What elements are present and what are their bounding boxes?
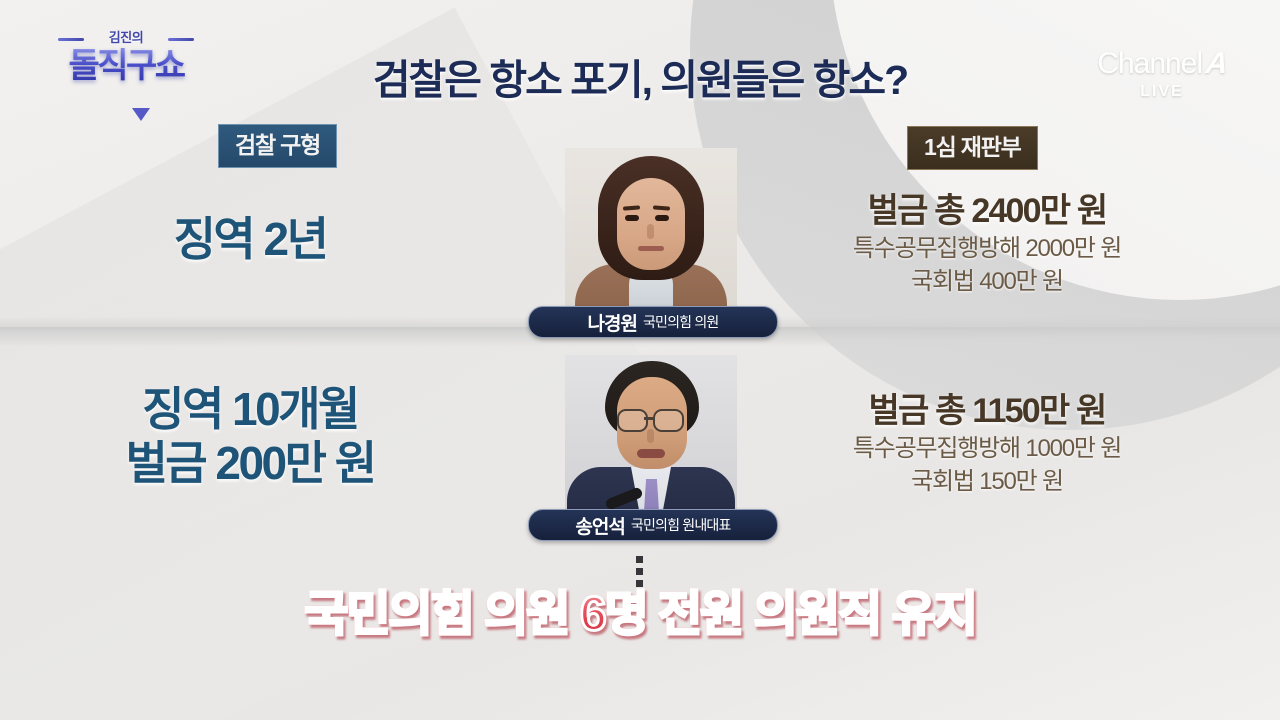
- right-value-row-2: 벌금 총 1150만 원 특수공무집행방해 1000만 원 국회법 150만 원: [772, 390, 1202, 498]
- portrait-2-glasses-left: [617, 409, 648, 432]
- portrait-1-nose: [647, 224, 654, 239]
- left-value-row-1: 징역 2년: [10, 212, 490, 266]
- nameplate-row-2: 송언석 국민의힘 원내대표: [528, 509, 778, 541]
- show-logo-title: 돌직구쇼: [52, 46, 200, 86]
- channel-brand-text: Channel: [1097, 47, 1202, 80]
- live-indicator: LIVE: [1062, 83, 1262, 101]
- sentence-row-1-line-1: 징역 2년: [10, 212, 490, 266]
- badge-first-trial-court: 1심 재판부: [907, 126, 1038, 170]
- channel-a-mark-icon: A: [1204, 48, 1228, 80]
- sentence-row-2-line-2: 벌금 200만 원: [10, 436, 490, 490]
- nameplate-2-person-name: 송언석: [575, 512, 624, 539]
- portrait-2-glasses-right: [653, 409, 684, 432]
- portrait-1-mouth: [638, 246, 664, 251]
- show-logo-speech-tail: [132, 108, 150, 121]
- ellipsis-dot: [636, 568, 643, 575]
- badge-prosecution-demand: 검찰 구형: [218, 124, 337, 168]
- fine-detail-row-2-line-2: 국회법 150만 원: [772, 465, 1202, 498]
- fine-total-row-2: 벌금 총 1150만 원: [772, 390, 1202, 432]
- right-value-row-1: 벌금 총 2400만 원 특수공무집행방해 2000만 원 국회법 400만 원: [772, 190, 1202, 298]
- nameplate-2-person-role: 국민의힘 원내대표: [631, 515, 731, 535]
- left-value-row-2: 징역 10개월 벌금 200만 원: [10, 382, 490, 490]
- nameplate-1-person-role: 국민의힘 의원: [643, 312, 719, 332]
- portrait-song-eon-seok: [565, 355, 737, 525]
- nameplate-row-1: 나경원 국민의힘 의원: [528, 306, 778, 338]
- fine-detail-row-1-line-1: 특수공무집행방해 2000만 원: [772, 232, 1202, 265]
- portrait-2-nose: [647, 429, 654, 443]
- channel-logo: ChannelA LIVE: [1062, 48, 1262, 101]
- show-logo-subtitle: 김진의: [52, 30, 200, 45]
- portrait-2-mouth: [637, 449, 665, 458]
- portrait-na-kyung-won: [565, 148, 737, 318]
- fine-total-row-1: 벌금 총 2400만 원: [772, 190, 1202, 232]
- fine-detail-row-2-line-1: 특수공무집행방해 1000만 원: [772, 432, 1202, 465]
- portrait-1-eye-right: [655, 215, 669, 221]
- portrait-1-eye-left: [625, 215, 639, 221]
- fine-detail-row-1-line-2: 국회법 400만 원: [772, 265, 1202, 298]
- portrait-2-glasses-bridge: [644, 417, 653, 420]
- vertical-ellipsis-icon: [636, 556, 643, 587]
- bottom-banner: 국민의힘 의원 6명 전원 의원직 유지: [0, 586, 1280, 644]
- ellipsis-dot: [636, 556, 643, 563]
- broadcast-graphic: 김진의 돌직구쇼 검찰은 항소 포기, 의원들은 항소? ChannelA LI…: [0, 0, 1280, 720]
- nameplate-1-person-name: 나경원: [587, 309, 636, 336]
- channel-brand: ChannelA: [1062, 48, 1262, 80]
- sentence-row-2-line-1: 징역 10개월: [10, 382, 490, 436]
